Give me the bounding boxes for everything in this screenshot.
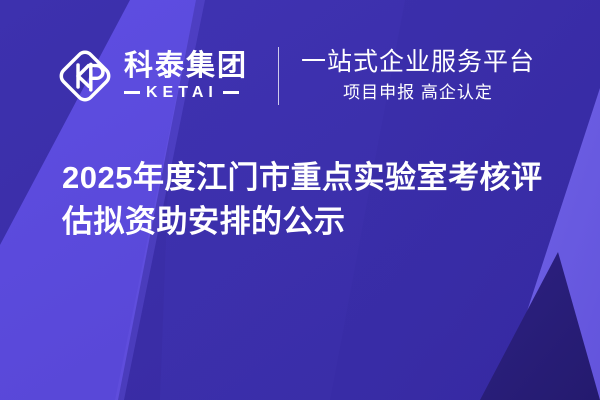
slogan-secondary: 项目申报 高企认定 (301, 82, 535, 104)
page-title-line-2: 估拟资助安排的公示 (62, 200, 562, 244)
brand-wordmark: 科泰集团 KETAI (124, 51, 248, 100)
slogan-block: 一站式企业服务平台 项目申报 高企认定 (301, 48, 535, 104)
header-divider (278, 47, 279, 105)
brand-dash-right-icon (223, 91, 239, 94)
brand-name-latin: KETAI (146, 85, 218, 101)
slogan-primary: 一站式企业服务平台 (301, 48, 535, 77)
brand-name-cn: 科泰集团 (124, 51, 248, 81)
announcement-banner: 科泰集团 KETAI 一站式企业服务平台 项目申报 高企认定 2025年度江门市… (0, 0, 600, 400)
ketai-diamond-kp-logo-icon (56, 47, 114, 105)
page-title-line-1: 2025年度江门市重点实验室考核评 (62, 156, 562, 200)
page-title: 2025年度江门市重点实验室考核评 估拟资助安排的公示 (62, 156, 562, 244)
brand-dash-left-icon (124, 91, 140, 94)
brand-header: 科泰集团 KETAI 一站式企业服务平台 项目申报 高企认定 (56, 40, 535, 112)
brand-latin-row: KETAI (124, 85, 248, 101)
